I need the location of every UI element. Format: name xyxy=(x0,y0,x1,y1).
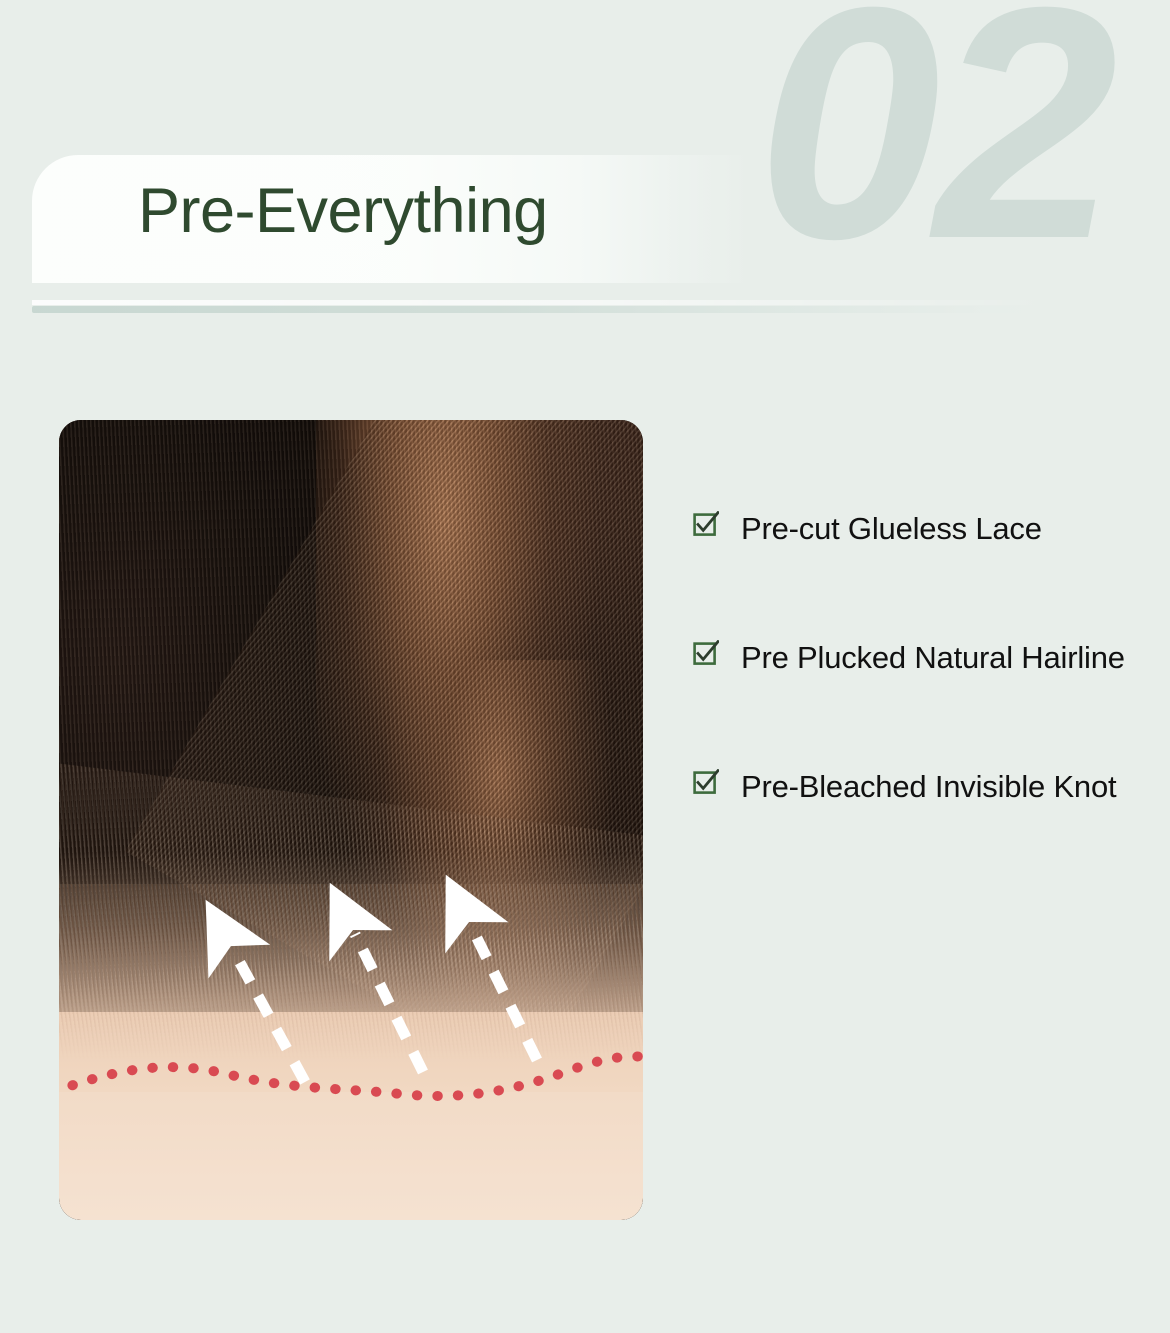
list-item: Pre-cut Glueless Lace xyxy=(693,505,1145,552)
hairline-dotted-marker xyxy=(59,1056,643,1096)
header-divider xyxy=(32,306,1062,313)
page-title: Pre-Everything xyxy=(138,178,548,244)
list-item-label: Pre Plucked Natural Hairline xyxy=(741,634,1145,681)
list-item-label: Pre-cut Glueless Lace xyxy=(741,505,1145,552)
feature-list: Pre-cut Glueless Lace Pre Plucked Natura… xyxy=(693,505,1145,810)
header-rule-highlight xyxy=(32,300,1052,305)
checkbox-checked-icon xyxy=(693,511,719,537)
list-item: Pre Plucked Natural Hairline xyxy=(693,634,1145,681)
list-item-label: Pre-Bleached Invisible Knot xyxy=(741,763,1145,810)
hair-direction-arrows xyxy=(233,926,537,1082)
photo-annotation-overlay xyxy=(59,420,643,1220)
checkbox-checked-icon xyxy=(693,769,719,795)
promo-page: 02 Pre-Everything xyxy=(0,0,1170,1333)
list-item: Pre-Bleached Invisible Knot xyxy=(693,763,1145,810)
checkbox-checked-icon xyxy=(693,640,719,666)
section-number-watermark: 02 xyxy=(757,0,1112,288)
hairline-photo-card xyxy=(59,420,643,1220)
header-section: 02 Pre-Everything xyxy=(0,0,1170,340)
